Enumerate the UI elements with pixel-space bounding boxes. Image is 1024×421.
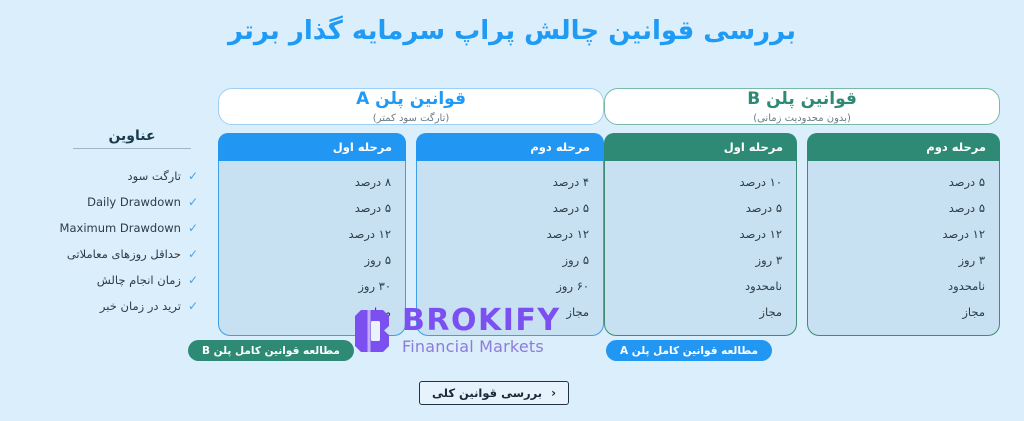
page-title: بررسی قوانین چالش پراپ سرمایه گذار برتر	[0, 16, 1024, 46]
general-rules-button-label: بررسی قوانین کلی	[432, 386, 542, 400]
plan-a-stages: مرحله اول ۸ درصد ۵ درصد ۱۲ درصد ۵ روز ۳۰…	[218, 133, 604, 336]
value-cell: ۱۲ درصد	[431, 223, 589, 245]
plan-b-title: قوانین پلن B	[747, 89, 857, 110]
value-cell: ۸ درصد	[233, 171, 391, 193]
list-item: ✓ Daily Drawdown	[66, 191, 198, 213]
stage-header: مرحله دوم	[416, 133, 604, 161]
check-icon: ✓	[188, 222, 198, 234]
value-cell: ۴ درصد	[431, 171, 589, 193]
plan-b-group: قوانین پلن B (بدون محدودیت زمانی) مرحله …	[604, 88, 1000, 328]
list-item: ✓ Maximum Drawdown	[66, 217, 198, 239]
general-rules-button[interactable]: ‹ بررسی قوانین کلی	[419, 381, 569, 405]
list-item: ✓ ترید در زمان خبر	[66, 295, 198, 317]
stage-header: مرحله اول	[218, 133, 406, 161]
plan-a-stage-one: مرحله اول ۸ درصد ۵ درصد ۱۲ درصد ۵ روز ۳۰…	[218, 133, 406, 336]
value-cell: مجاز	[233, 301, 391, 323]
check-icon: ✓	[188, 196, 198, 208]
plan-a-group: قوانین پلن A (تارگت سود کمتر) مرحله اول …	[218, 88, 604, 328]
value-cell: مجاز	[822, 301, 985, 323]
plans-comparison-board: عناوین ✓ تارگت سود ✓ Daily Drawdown ✓ Ma…	[66, 88, 1000, 328]
value-cell: ۵ روز	[431, 249, 589, 271]
value-cell: ۳ روز	[619, 249, 782, 271]
plan-b-stages: مرحله اول ۱۰ درصد ۵ درصد ۱۲ درصد ۳ روز ن…	[604, 133, 1000, 336]
criterion-label: ترید در زمان خبر	[100, 299, 181, 313]
criterion-label: حداقل روزهای معاملاتی	[67, 247, 181, 261]
stage-values: ۴ درصد ۵ درصد ۱۲ درصد ۵ روز ۶۰ روز مجاز	[416, 161, 604, 336]
stage-values: ۵ درصد ۵ درصد ۱۲ درصد ۳ روز نامحدود مجاز	[807, 161, 1000, 336]
comparison-infographic: بررسی قوانین چالش پراپ سرمایه گذار برتر …	[0, 0, 1024, 421]
stage-values: ۱۰ درصد ۵ درصد ۱۲ درصد ۳ روز نامحدود مجا…	[604, 161, 797, 336]
chevron-left-icon: ‹	[551, 387, 556, 399]
titles-column-heading: عناوین	[108, 128, 155, 144]
plan-a-subtitle: (تارگت سود کمتر)	[373, 113, 449, 124]
value-cell: ۵ درصد	[431, 197, 589, 219]
value-cell: ۱۰ درصد	[619, 171, 782, 193]
titles-column: عناوین ✓ تارگت سود ✓ Daily Drawdown ✓ Ma…	[66, 88, 206, 328]
list-item: ✓ زمان انجام چالش	[66, 269, 198, 291]
criterion-label: Maximum Drawdown	[60, 221, 181, 235]
value-cell: ۵ درصد	[233, 197, 391, 219]
criterion-label: Daily Drawdown	[87, 195, 181, 209]
value-cell: ۳۰ روز	[233, 275, 391, 297]
stage-header: مرحله اول	[604, 133, 797, 161]
value-cell: مجاز	[431, 301, 589, 323]
read-full-rules-plan-a-button[interactable]: مطالعه قوانین کامل پلن A	[606, 340, 772, 361]
plan-b-subtitle: (بدون محدودیت زمانی)	[753, 113, 851, 124]
value-cell: ۵ روز	[233, 249, 391, 271]
stage-values: ۸ درصد ۵ درصد ۱۲ درصد ۵ روز ۳۰ روز مجاز	[218, 161, 406, 336]
value-cell: ۵ درصد	[822, 171, 985, 193]
criterion-label: تارگت سود	[128, 169, 181, 183]
value-cell: مجاز	[619, 301, 782, 323]
check-icon: ✓	[188, 170, 198, 182]
list-item: ✓ تارگت سود	[66, 165, 198, 187]
plan-b-header: قوانین پلن B (بدون محدودیت زمانی)	[604, 88, 1000, 125]
criterion-label: زمان انجام چالش	[97, 273, 181, 287]
plan-a-header: قوانین پلن A (تارگت سود کمتر)	[218, 88, 604, 125]
value-cell: ۶۰ روز	[431, 275, 589, 297]
plan-a-title: قوانین پلن A	[356, 89, 466, 110]
value-cell: ۳ روز	[822, 249, 985, 271]
value-cell: ۱۲ درصد	[822, 223, 985, 245]
value-cell: نامحدود	[822, 275, 985, 297]
read-full-rules-plan-b-button[interactable]: مطالعه قوانین کامل پلن B	[188, 340, 354, 361]
plan-b-stage-two: مرحله دوم ۵ درصد ۵ درصد ۱۲ درصد ۳ روز نا…	[807, 133, 1000, 336]
check-icon: ✓	[188, 300, 198, 312]
value-cell: ۱۲ درصد	[233, 223, 391, 245]
plan-a-stage-two: مرحله دوم ۴ درصد ۵ درصد ۱۲ درصد ۵ روز ۶۰…	[416, 133, 604, 336]
value-cell: ۱۲ درصد	[619, 223, 782, 245]
check-icon: ✓	[188, 248, 198, 260]
check-icon: ✓	[188, 274, 198, 286]
value-cell: ۵ درصد	[619, 197, 782, 219]
titles-column-header: عناوین	[66, 88, 198, 148]
value-cell: ۵ درصد	[822, 197, 985, 219]
plan-b-stage-one: مرحله اول ۱۰ درصد ۵ درصد ۱۲ درصد ۳ روز ن…	[604, 133, 797, 336]
stage-header: مرحله دوم	[807, 133, 1000, 161]
list-item: ✓ حداقل روزهای معاملاتی	[66, 243, 198, 265]
brokify-tagline: Financial Markets	[402, 339, 561, 355]
value-cell: نامحدود	[619, 275, 782, 297]
titles-list: ✓ تارگت سود ✓ Daily Drawdown ✓ Maximum D…	[66, 149, 198, 321]
